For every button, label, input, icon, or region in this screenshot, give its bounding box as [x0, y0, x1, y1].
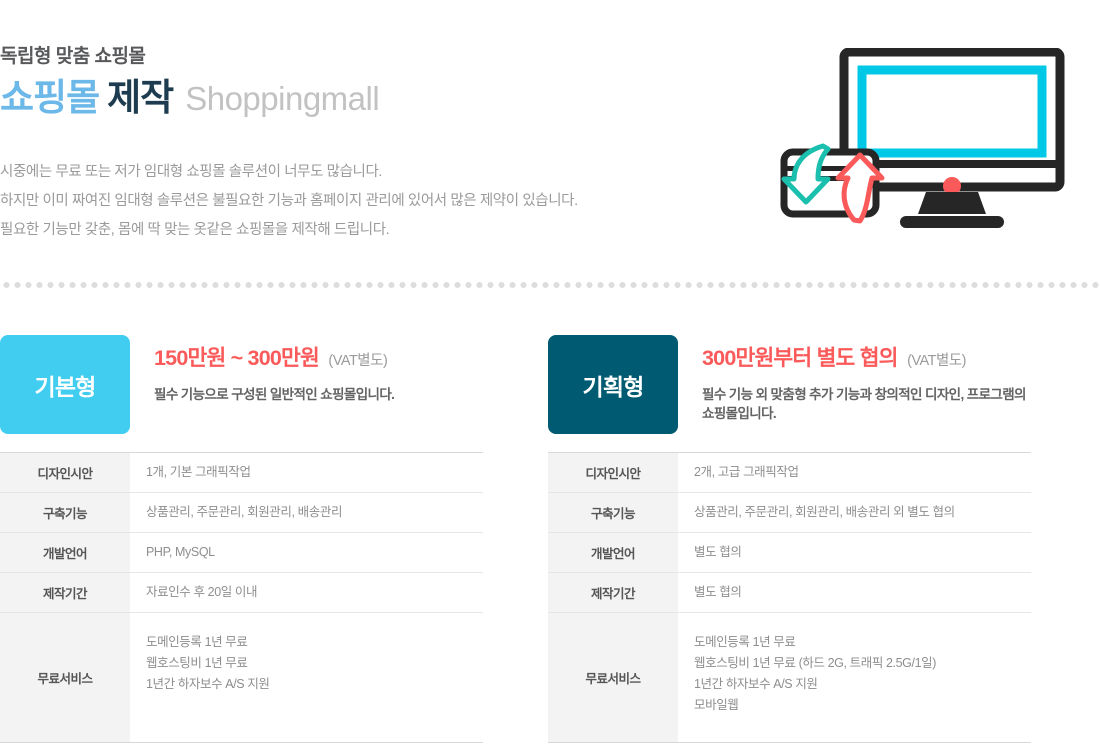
page-title-part-2: 제작 — [107, 77, 173, 118]
spec-label: 제작기간 — [0, 573, 130, 612]
table-row: 디자인시안 2개, 고급 그래픽작업 — [548, 453, 1031, 493]
spec-value: 도메인등록 1년 무료 웹호스팅비 1년 무료 1년간 하자보수 A/S 지원 — [130, 613, 483, 742]
table-row: 무료서비스 도메인등록 1년 무료 웹호스팅비 1년 무료 1년간 하자보수 A… — [0, 613, 483, 743]
page-title-part-3: Shoppingmall — [185, 80, 379, 117]
spec-value-line: 상품관리, 주문관리, 회원관리, 배송관리 외 별도 협의 — [694, 502, 955, 523]
plan-header: 기획형 300만원부터 별도 협의 (VAT별도) 필수 기능 외 맞춤형 추가… — [548, 335, 1031, 435]
hero-section: 독립형 맞춤 쇼핑몰 쇼핑몰제작Shoppingmall 시중에는 무료 또는 … — [0, 0, 1100, 270]
table-row: 무료서비스 도메인등록 1년 무료 웹호스팅비 1년 무료 (하드 2G, 트래… — [548, 613, 1031, 743]
spec-value-line: 2개, 고급 그래픽작업 — [694, 462, 799, 483]
spec-value-line: 자료인수 후 20일 이내 — [146, 582, 257, 603]
spec-label: 구축기능 — [548, 493, 678, 532]
spec-label: 디자인시안 — [548, 453, 678, 492]
page-title: 쇼핑몰제작Shoppingmall — [0, 74, 379, 130]
table-row: 개발언어 별도 협의 — [548, 533, 1031, 573]
plan-card-premium: 기획형 300만원부터 별도 협의 (VAT별도) 필수 기능 외 맞춤형 추가… — [548, 335, 1031, 743]
plan-vat-note: (VAT별도) — [328, 353, 387, 369]
table-row: 구축기능 상품관리, 주문관리, 회원관리, 배송관리 외 별도 협의 — [548, 493, 1031, 533]
plan-price-row: 150만원 ~ 300만원 (VAT별도) — [154, 343, 394, 376]
plan-badge-basic: 기본형 — [0, 335, 130, 434]
spec-value: 별도 협의 — [678, 533, 1031, 572]
plan-header: 기본형 150만원 ~ 300만원 (VAT별도) 필수 기능으로 구성된 일반… — [0, 335, 483, 435]
spec-value-line: 별도 협의 — [694, 542, 741, 563]
spec-value: 1개, 기본 그래픽작업 — [130, 453, 483, 492]
spec-value-line: 웹호스팅비 1년 무료 (하드 2G, 트래픽 2.5G/1일) — [694, 653, 936, 674]
spec-label: 무료서비스 — [0, 613, 130, 742]
desktop-monitor-with-card-arrows-illustration — [780, 48, 1080, 243]
pricing-plans: 기본형 150만원 ~ 300만원 (VAT별도) 필수 기능으로 구성된 일반… — [0, 335, 1100, 743]
table-row: 구축기능 상품관리, 주문관리, 회원관리, 배송관리 — [0, 493, 483, 533]
plan-head-copy: 300만원부터 별도 협의 (VAT별도) 필수 기능 외 맞춤형 추가 기능과… — [678, 335, 1031, 423]
hero-description: 시중에는 무료 또는 저가 임대형 쇼핑몰 솔루션이 너무도 많습니다. 하지만… — [0, 158, 578, 245]
spec-value-line: 웹호스팅비 1년 무료 — [146, 653, 270, 674]
table-row: 디자인시안 1개, 기본 그래픽작업 — [0, 453, 483, 493]
plan-price: 300만원부터 별도 협의 — [702, 346, 898, 370]
table-row: 제작기간 별도 협의 — [548, 573, 1031, 613]
spec-label: 제작기간 — [548, 573, 678, 612]
spec-value-line: 별도 협의 — [694, 582, 741, 603]
hero-kicker: 독립형 맞춤 쇼핑몰 — [0, 44, 379, 70]
spec-value: PHP, MySQL — [130, 533, 483, 572]
plan-head-copy: 150만원 ~ 300만원 (VAT별도) 필수 기능으로 구성된 일반적인 쇼… — [130, 335, 394, 404]
spec-value: 별도 협의 — [678, 573, 1031, 612]
plan-description: 필수 기능으로 구성된 일반적인 쇼핑몰입니다. — [154, 385, 394, 404]
spec-label: 무료서비스 — [548, 613, 678, 742]
spec-label: 개발언어 — [0, 533, 130, 572]
plan-description-line: 필수 기능으로 구성된 일반적인 쇼핑몰입니다. — [154, 387, 394, 402]
hero-description-line: 필요한 기능만 갖춘, 몸에 딱 맞는 옷같은 쇼핑몰을 제작해 드립니다. — [0, 216, 578, 245]
spec-label: 개발언어 — [548, 533, 678, 572]
plan-vat-note: (VAT별도) — [907, 353, 966, 369]
spec-value-line: 1개, 기본 그래픽작업 — [146, 462, 251, 483]
plan-spec-table-premium: 디자인시안 2개, 고급 그래픽작업 구축기능 상품관리, 주문관리, 회원관리… — [548, 452, 1031, 743]
plan-spec-table-basic: 디자인시안 1개, 기본 그래픽작업 구축기능 상품관리, 주문관리, 회원관리… — [0, 452, 483, 743]
spec-value-line: 상품관리, 주문관리, 회원관리, 배송관리 — [146, 502, 342, 523]
spec-value: 도메인등록 1년 무료 웹호스팅비 1년 무료 (하드 2G, 트래픽 2.5G… — [678, 613, 1031, 742]
spec-value-line: 1년간 하자보수 A/S 지원 — [694, 674, 936, 695]
plan-badge-premium: 기획형 — [548, 335, 678, 434]
spec-value: 2개, 고급 그래픽작업 — [678, 453, 1031, 492]
plan-price-row: 300만원부터 별도 협의 (VAT별도) — [702, 343, 1031, 376]
spec-value-line: PHP, MySQL — [146, 542, 215, 563]
page-title-part-1: 쇼핑몰 — [0, 77, 99, 118]
spec-label: 구축기능 — [0, 493, 130, 532]
spec-value: 자료인수 후 20일 이내 — [130, 573, 483, 612]
plan-description: 필수 기능 외 맞춤형 추가 기능과 창의적인 디자인, 프로그램의 쇼핑몰입니… — [702, 385, 1031, 423]
table-row: 제작기간 자료인수 후 20일 이내 — [0, 573, 483, 613]
plan-price: 150만원 ~ 300만원 — [154, 346, 319, 370]
spec-value-line: 도메인등록 1년 무료 — [694, 632, 936, 653]
spec-label: 디자인시안 — [0, 453, 130, 492]
hero-text-block: 독립형 맞춤 쇼핑몰 쇼핑몰제작Shoppingmall — [0, 44, 379, 130]
hero-description-line: 시중에는 무료 또는 저가 임대형 쇼핑몰 솔루션이 너무도 많습니다. — [0, 158, 578, 187]
hero-description-line: 하지만 이미 짜여진 임대형 솔루션은 불필요한 기능과 홈페이지 관리에 있어… — [0, 187, 578, 216]
table-row: 개발언어 PHP, MySQL — [0, 533, 483, 573]
plan-card-basic: 기본형 150만원 ~ 300만원 (VAT별도) 필수 기능으로 구성된 일반… — [0, 335, 483, 743]
plan-description-line: 필수 기능 외 맞춤형 추가 기능과 창의적인 디자인, — [702, 387, 964, 402]
spec-value-line: 1년간 하자보수 A/S 지원 — [146, 674, 270, 695]
dotted-divider — [0, 282, 1100, 288]
spec-value: 상품관리, 주문관리, 회원관리, 배송관리 — [130, 493, 483, 532]
spec-value-line: 도메인등록 1년 무료 — [146, 632, 270, 653]
spec-value: 상품관리, 주문관리, 회원관리, 배송관리 외 별도 협의 — [678, 493, 1031, 532]
spec-value-line: 모바일웹 — [694, 695, 936, 716]
